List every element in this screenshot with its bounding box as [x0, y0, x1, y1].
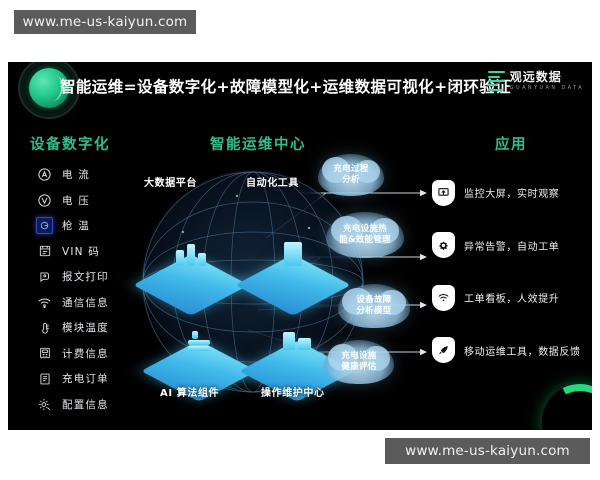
label-ai-algorithm: AI 算法组件: [160, 384, 219, 399]
label-bigdata-platform: 大数据平台: [144, 174, 197, 189]
app-label: 异常告警，自动工单: [464, 238, 559, 253]
application-list: 监控大屏，实时观察 异常告警，自动工单 工单看板，人效提升: [432, 174, 592, 384]
watermark-bottom: www.me-us-kaiyun.com: [385, 438, 590, 464]
vin-card-icon: [36, 243, 53, 260]
cloud-line-1: 设备故障: [356, 295, 391, 305]
cloud-line-2: 健康评估: [341, 362, 376, 372]
param-label: 充电订单: [62, 371, 109, 386]
thermometer-icon: [36, 319, 53, 336]
cloud-health-assessment: 充电设施 健康评估: [324, 340, 394, 384]
screenshot-root: www.me-us-kaiyun.com 智能运维=设备数字化+故障模型化+运维…: [0, 0, 600, 480]
cloud-line-2: 分析: [342, 175, 360, 185]
cloud-line-2: 分析模型: [356, 306, 391, 316]
param-label: 计费信息: [62, 346, 109, 361]
param-label: VIN 码: [62, 244, 100, 259]
cloud-fault-analysis-model: 设备故障 分析模型: [338, 284, 410, 328]
cloud-line-2: 能&效能管理: [339, 235, 391, 245]
ampere-circle-icon: [36, 166, 53, 183]
gun-temperature-icon: [36, 217, 53, 234]
message-print-icon: [36, 268, 53, 285]
param-label: 电 流: [62, 167, 90, 182]
cloud-thermal-efficiency: 充电设施热 能&效能管理: [326, 212, 404, 258]
app-label: 工单看板，人效提升: [464, 290, 559, 305]
platform-ai: [158, 330, 240, 412]
settings-gear-icon: [36, 396, 53, 413]
app-row-alert-workorder[interactable]: 异常告警，自动工单: [432, 227, 592, 264]
param-label: 报文打印: [62, 269, 109, 284]
app-row-workorder-board[interactable]: 工单看板，人效提升: [432, 279, 592, 316]
platform-autotool: [252, 244, 334, 326]
param-label: 通信信息: [62, 295, 109, 310]
app-row-mobile-ops[interactable]: 移动运维工具，数据反馈: [432, 332, 592, 369]
watermark-top: www.me-us-kaiyun.com: [14, 10, 196, 34]
param-label: 模块温度: [62, 320, 109, 335]
infographic-poster: 智能运维=设备数字化+故障模型化+运维数据可视化+闭环验证 观远数据 GUANY…: [8, 62, 592, 430]
platform-bigdata: [150, 244, 232, 326]
gear-alert-icon: [432, 232, 455, 258]
param-label: 配置信息: [62, 397, 109, 412]
cloud-charging-process-analysis: 充电过程 分析: [318, 154, 384, 196]
rocket-icon: [432, 337, 455, 363]
billing-icon: [36, 345, 53, 362]
label-ops-center: 操作维护中心: [261, 384, 325, 399]
cloud-line-1: 充电过程: [333, 164, 368, 174]
param-label: 枪 温: [62, 218, 90, 233]
app-label: 移动运维工具，数据反馈: [464, 343, 581, 358]
volt-circle-icon: [36, 192, 53, 209]
wifi-board-icon: [432, 285, 455, 311]
wifi-signal-icon: [36, 294, 53, 311]
cloud-line-1: 充电设施: [341, 351, 376, 361]
monitor-screen-icon: [432, 180, 455, 206]
param-label: 电 压: [62, 193, 90, 208]
order-list-icon: [36, 370, 53, 387]
label-automation-tool: 自动化工具: [246, 174, 299, 189]
app-label: 监控大屏，实时观察: [464, 185, 559, 200]
app-row-monitor-screen[interactable]: 监控大屏，实时观察: [432, 174, 592, 211]
cloud-line-1: 充电设施热: [343, 224, 387, 234]
